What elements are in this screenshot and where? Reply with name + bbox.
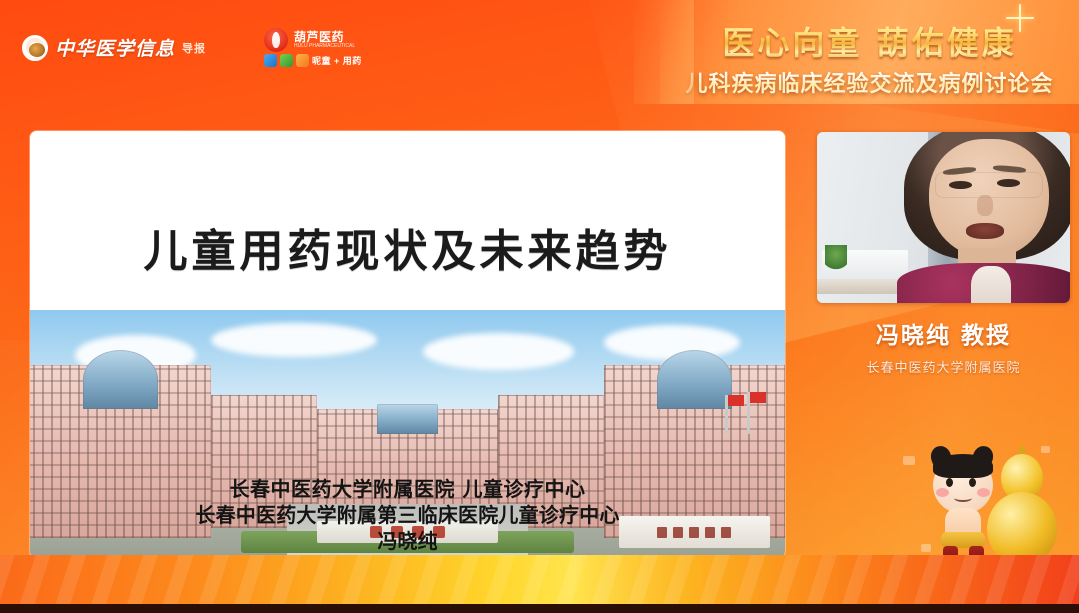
- logo-bar: 中华医学信息 导报 葫芦医药 HULU PHARMACEUTICAL 呢童 + …: [22, 28, 362, 67]
- sponsor-logo: 葫芦医药 HULU PHARMACEUTICAL 呢童 + 用药: [264, 28, 362, 67]
- cloud-shape: [211, 323, 377, 358]
- slide-presenter-name: 冯晓纯: [30, 528, 785, 554]
- building-left-tower: [83, 350, 159, 409]
- broadcast-stage: 中华医学信息 导报 葫芦医药 HULU PHARMACEUTICAL 呢童 + …: [0, 0, 1079, 613]
- blue-chip-icon: [264, 54, 277, 67]
- organizer-logo-suffix: 导报: [182, 40, 206, 56]
- sponsor-logo-tag: 呢童 + 用药: [312, 54, 362, 67]
- slide-title: 儿童用药现状及未来趋势: [30, 215, 785, 279]
- speaker-caption: 冯晓纯 教授 长春中医药大学附属医院: [817, 316, 1070, 376]
- sponsor-logo-bottom: 呢童 + 用药: [264, 54, 362, 67]
- webcam-person: [893, 132, 1070, 303]
- sponsor-logo-top: 葫芦医药 HULU PHARMACEUTICAL: [264, 28, 362, 52]
- speaker-organization: 长春中医药大学附属医院: [817, 357, 1070, 376]
- medical-seal-icon: [22, 35, 48, 61]
- bottom-letterbox-edge: [0, 604, 1079, 613]
- presentation-slide[interactable]: 儿童用药现状及未来趋势 长春中医: [30, 131, 785, 558]
- slide-subtitle-block: 长春中医药大学附属医院 儿童诊疗中心 长春中医药大学附属第三临床医院儿童诊疗中心…: [30, 476, 785, 558]
- sponsor-logo-name: 葫芦医药 HULU PHARMACEUTICAL: [294, 31, 355, 49]
- slide-subtitle-line-1: 长春中医药大学附属医院 儿童诊疗中心: [30, 476, 785, 502]
- green-chip-icon: [280, 54, 293, 67]
- slide-subtitle-line-2: 长春中医药大学附属第三临床医院儿童诊疗中心: [30, 502, 785, 528]
- organizer-logo: 中华医学信息 导报: [22, 34, 206, 61]
- event-title: 医心向童 葫佑健康: [660, 18, 1079, 64]
- confetti-shape: [1041, 446, 1050, 453]
- flag-pole: [725, 395, 728, 435]
- cloud-shape: [423, 333, 574, 370]
- sponsor-logo-name-sub: HULU PHARMACEUTICAL: [294, 44, 355, 49]
- event-title-banner: 医心向童 葫佑健康 儿科疾病临床经验交流及病例讨论会: [660, 0, 1079, 104]
- gourd-red-circle-icon: [264, 28, 288, 52]
- mascot-boy-figure: [921, 446, 1007, 570]
- building-center-glass: [377, 404, 437, 434]
- flag-pole: [747, 392, 750, 434]
- building-right-tower: [657, 350, 733, 409]
- sponsor-logo-name-text: 葫芦医药: [294, 30, 344, 44]
- confetti-shape: [903, 456, 915, 465]
- speaker-webcam-feed[interactable]: [817, 132, 1070, 303]
- orange-chip-icon: [296, 54, 309, 67]
- organizer-logo-name: 中华医学信息: [55, 34, 175, 61]
- event-subtitle: 儿科疾病临床经验交流及病例讨论会: [660, 66, 1079, 98]
- webcam-background-plant: [825, 245, 848, 272]
- speaker-name: 冯晓纯 教授: [817, 316, 1070, 350]
